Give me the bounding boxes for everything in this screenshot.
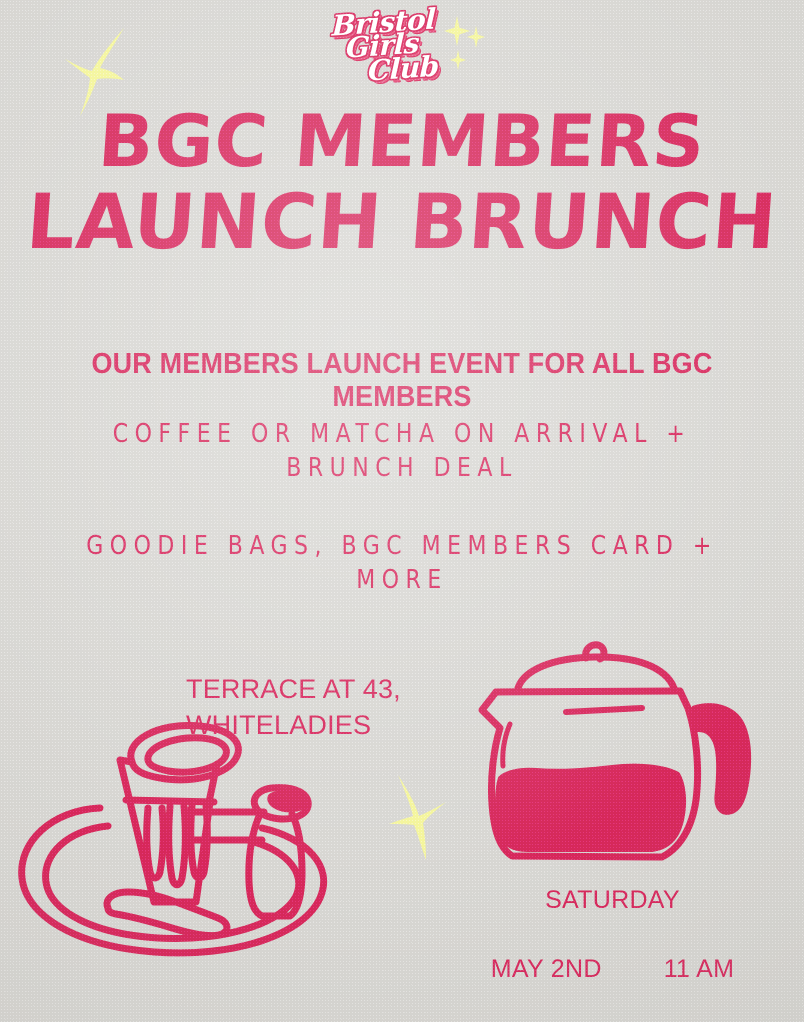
venue-address: TERRACE AT 43, WHITELADIES <box>186 672 401 743</box>
poster-canvas: Bristol Girls Club BGC MEMBERS LAUNCH BR… <box>0 0 804 1022</box>
coffee-pot-illustration <box>466 636 776 881</box>
headline-line-2: LAUNCH BRUNCH <box>0 186 804 257</box>
sparkle-icon <box>450 50 466 70</box>
event-day: SATURDAY <box>440 886 785 915</box>
event-time: 11 AM <box>664 955 735 984</box>
event-date: MAY 2ND <box>491 955 602 984</box>
detail-2-line-2: MORE <box>0 561 804 601</box>
perks-line-coffee: COFFEE OR MATCHA ON ARRIVAL + BRUNCH DEA… <box>0 418 804 486</box>
page-title: BGC MEMBERS LAUNCH BRUNCH <box>0 108 804 257</box>
sparkle-icon <box>388 772 450 862</box>
logo-word-club: Club <box>368 49 440 87</box>
venue-line-1: TERRACE AT 43, <box>186 672 401 708</box>
headline-line-1: BGC MEMBERS <box>0 108 804 176</box>
bristol-girls-club-logo: Bristol Girls Club <box>322 4 482 92</box>
subtitle: OUR MEMBERS LAUNCH EVENT FOR ALL BGC MEM… <box>28 348 776 414</box>
event-date-time-row: MAY 2ND 11 AM <box>440 955 785 984</box>
perks-line-goodie-bags: GOODIE BAGS, BGC MEMBERS CARD + MORE <box>0 530 804 598</box>
detail-1-line-2: BRUNCH DEAL <box>0 449 804 489</box>
sparkle-icon <box>467 26 485 48</box>
event-datetime: SATURDAY MAY 2ND 11 AM <box>440 886 785 984</box>
venue-line-2: WHITELADIES <box>186 708 401 744</box>
